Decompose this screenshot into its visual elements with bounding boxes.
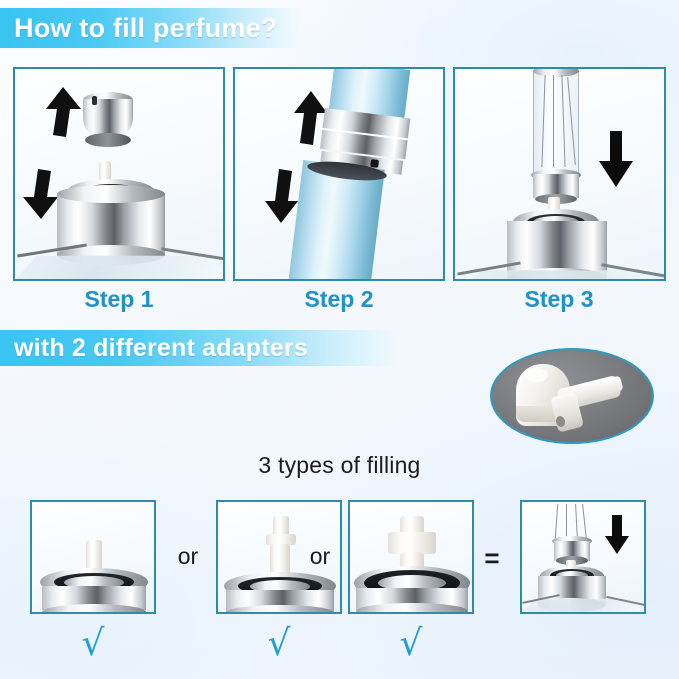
- connector-equals: =: [462, 543, 522, 574]
- filling-option-1-panel: [30, 500, 156, 614]
- step-3-panel: [453, 67, 666, 281]
- step-2-panel: [233, 67, 445, 281]
- check-option-2: √: [216, 626, 342, 662]
- adapters-banner: with 2 different adapters: [0, 330, 400, 366]
- adapters-text: with 2 different adapters: [14, 334, 308, 363]
- check-option-1: √: [30, 626, 156, 662]
- connector-or-2: or: [290, 543, 350, 570]
- white-adapter-cross: [388, 532, 436, 554]
- adapters-photo: [490, 348, 654, 444]
- chrome-pump-body: [356, 588, 468, 614]
- up-arrow-icon: [41, 87, 83, 139]
- chrome-pump-body: [226, 590, 334, 614]
- step-1-panel: [13, 67, 225, 281]
- chrome-cap: [83, 92, 133, 142]
- filling-option-3-panel: [348, 500, 474, 614]
- connector-or-1: or: [158, 543, 218, 570]
- check-option-3: √: [348, 626, 474, 662]
- step-2-label: Step 2: [233, 286, 445, 313]
- step-3-label: Step 3: [453, 286, 665, 313]
- dome-adapter-highlight: [526, 368, 548, 382]
- chrome-pump-body: [42, 586, 146, 614]
- infographic-canvas: How to fill perfume?: [0, 0, 679, 679]
- title-banner: How to fill perfume?: [0, 8, 300, 48]
- step-1-label: Step 1: [13, 286, 225, 313]
- down-arrow-icon: [604, 514, 630, 554]
- filling-result-panel: [520, 500, 646, 614]
- down-arrow-icon: [597, 129, 635, 187]
- types-of-filling-heading: 3 types of filling: [0, 452, 679, 479]
- title-text: How to fill perfume?: [14, 13, 278, 44]
